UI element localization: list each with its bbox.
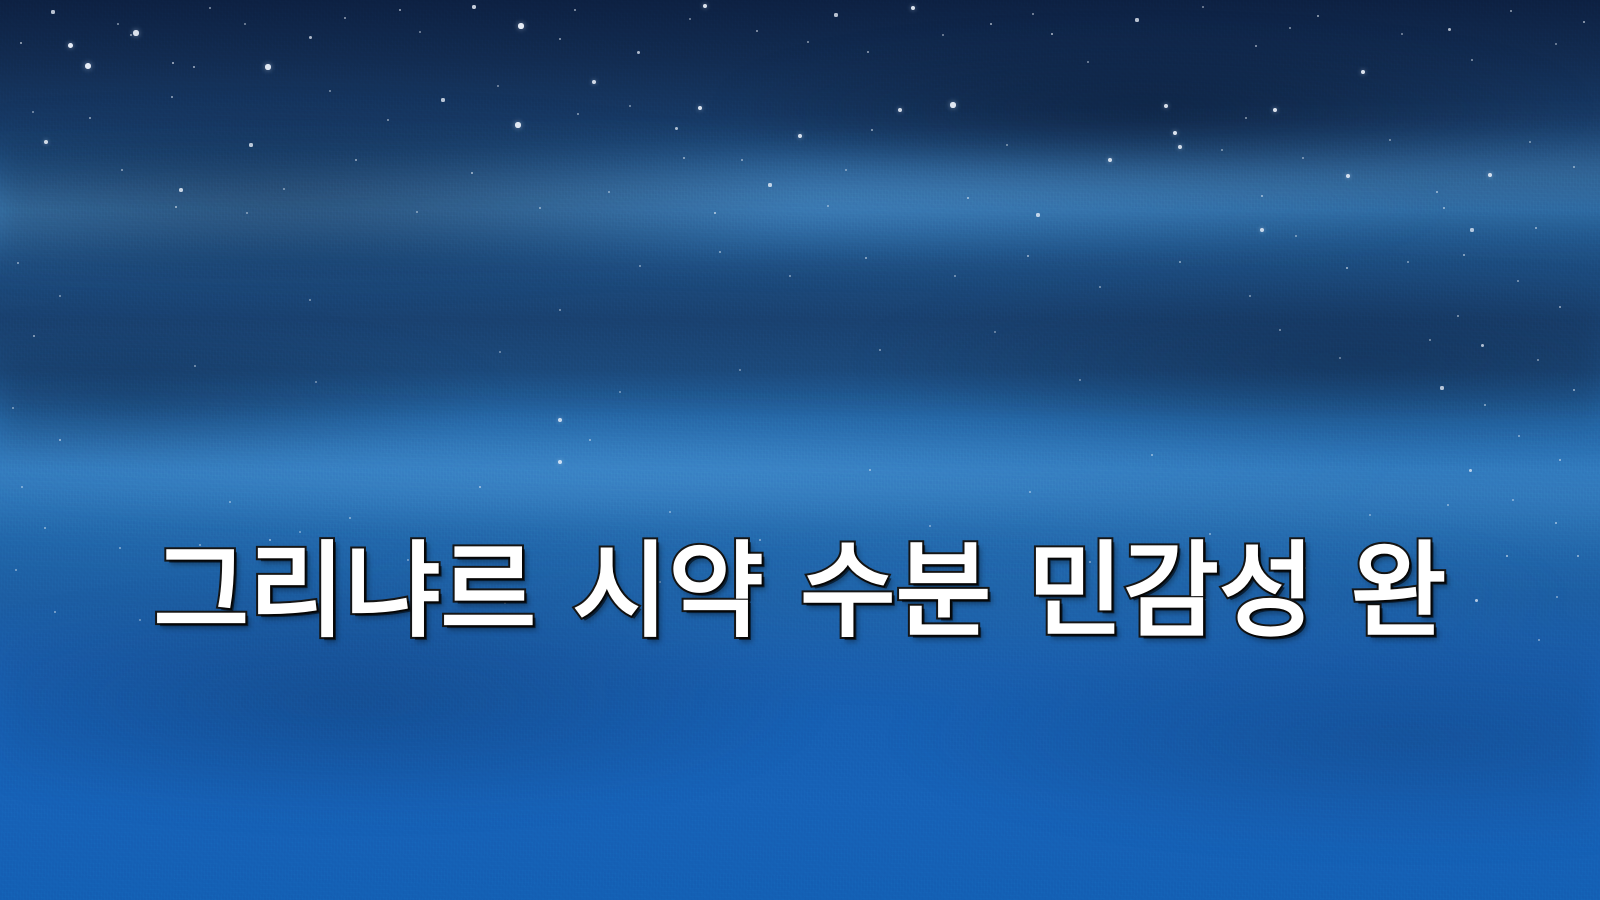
poster-canvas: 그리냐르 시약 수분 민감성 완 벽 가이드: 반응 실패 원인부터 안전 취급… bbox=[0, 0, 1600, 900]
title-line-1: 그리냐르 시약 수분 민감성 완 bbox=[0, 512, 1600, 670]
poster-title: 그리냐르 시약 수분 민감성 완 벽 가이드: 반응 실패 원인부터 안전 취급… bbox=[0, 196, 1600, 900]
